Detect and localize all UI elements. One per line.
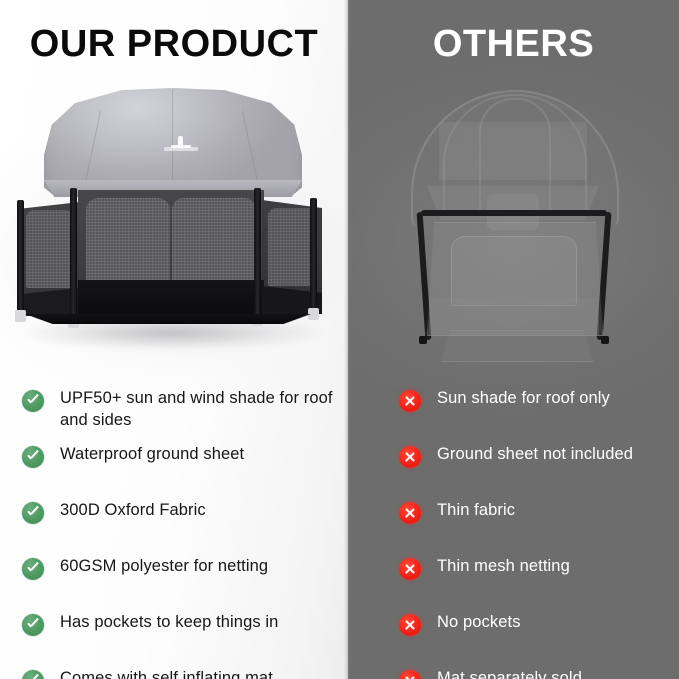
our-product-feature-list: UPF50+ sun and wind shade for roof and s…	[22, 388, 342, 679]
comparison-infographic: OUR PRODUCT	[0, 0, 679, 679]
list-item-label: Sun shade for roof only	[437, 388, 610, 410]
check-circle-icon	[22, 670, 44, 679]
tent-mesh-panel	[439, 122, 587, 180]
cross-circle-icon	[399, 446, 421, 468]
others-title: OTHERS	[348, 22, 679, 66]
frame-foot	[601, 336, 609, 344]
others-product-image	[383, 90, 641, 360]
list-item-label: Comes with self inflating mat	[60, 668, 273, 679]
cross-circle-icon	[399, 558, 421, 580]
list-item: 300D Oxford Fabric	[22, 500, 342, 544]
cross-circle-icon	[399, 614, 421, 636]
list-item: 60GSM polyester for netting	[22, 556, 342, 600]
frame-foot	[15, 310, 26, 322]
frame-foot	[419, 336, 427, 344]
floor-mat	[78, 280, 264, 316]
frame-post	[310, 198, 317, 316]
frame-post	[254, 188, 261, 320]
mesh-window	[86, 198, 170, 286]
cross-circle-icon	[399, 390, 421, 412]
list-item: Waterproof ground sheet	[22, 444, 342, 488]
frame-post	[70, 188, 77, 322]
list-item-label: Has pockets to keep things in	[60, 612, 278, 634]
cross-circle-icon	[399, 502, 421, 524]
separate-mat	[441, 330, 593, 362]
list-item-label: Thin fabric	[437, 500, 515, 522]
brand-logo-icon	[164, 130, 198, 156]
others-feature-list: Sun shade for roof only Ground sheet not…	[399, 388, 665, 679]
our-product-image	[14, 88, 334, 348]
list-item-label: 300D Oxford Fabric	[60, 500, 206, 522]
list-item: Thin fabric	[399, 500, 665, 544]
list-item-label: Thin mesh netting	[437, 556, 570, 578]
mesh-window	[268, 208, 316, 286]
list-item-label: Waterproof ground sheet	[60, 444, 244, 466]
playpen-body	[20, 184, 322, 324]
mesh-window	[26, 210, 74, 288]
check-circle-icon	[22, 446, 44, 468]
cross-circle-icon	[399, 670, 421, 679]
frame-post	[17, 200, 24, 318]
list-item-label: Mat separately sold	[437, 668, 582, 679]
list-item: Mat separately sold	[399, 668, 665, 679]
check-circle-icon	[22, 390, 44, 412]
list-item-label: 60GSM polyester for netting	[60, 556, 268, 578]
mesh-window	[172, 198, 256, 286]
check-circle-icon	[22, 558, 44, 580]
list-item: Has pockets to keep things in	[22, 612, 342, 656]
list-item: Thin mesh netting	[399, 556, 665, 600]
our-product-title: OUR PRODUCT	[0, 22, 348, 66]
list-item: No pockets	[399, 612, 665, 656]
list-item-label: UPF50+ sun and wind shade for roof and s…	[60, 388, 338, 431]
list-item: Ground sheet not included	[399, 444, 665, 488]
list-item: Comes with self inflating mat	[22, 668, 342, 679]
list-item-label: Ground sheet not included	[437, 444, 633, 466]
check-circle-icon	[22, 502, 44, 524]
list-item: Sun shade for roof only	[399, 388, 665, 432]
base-rail	[16, 314, 320, 324]
list-item-label: No pockets	[437, 612, 521, 634]
mesh-window	[451, 236, 577, 306]
check-circle-icon	[22, 614, 44, 636]
list-item: UPF50+ sun and wind shade for roof and s…	[22, 388, 342, 432]
frame-rail	[421, 210, 607, 216]
